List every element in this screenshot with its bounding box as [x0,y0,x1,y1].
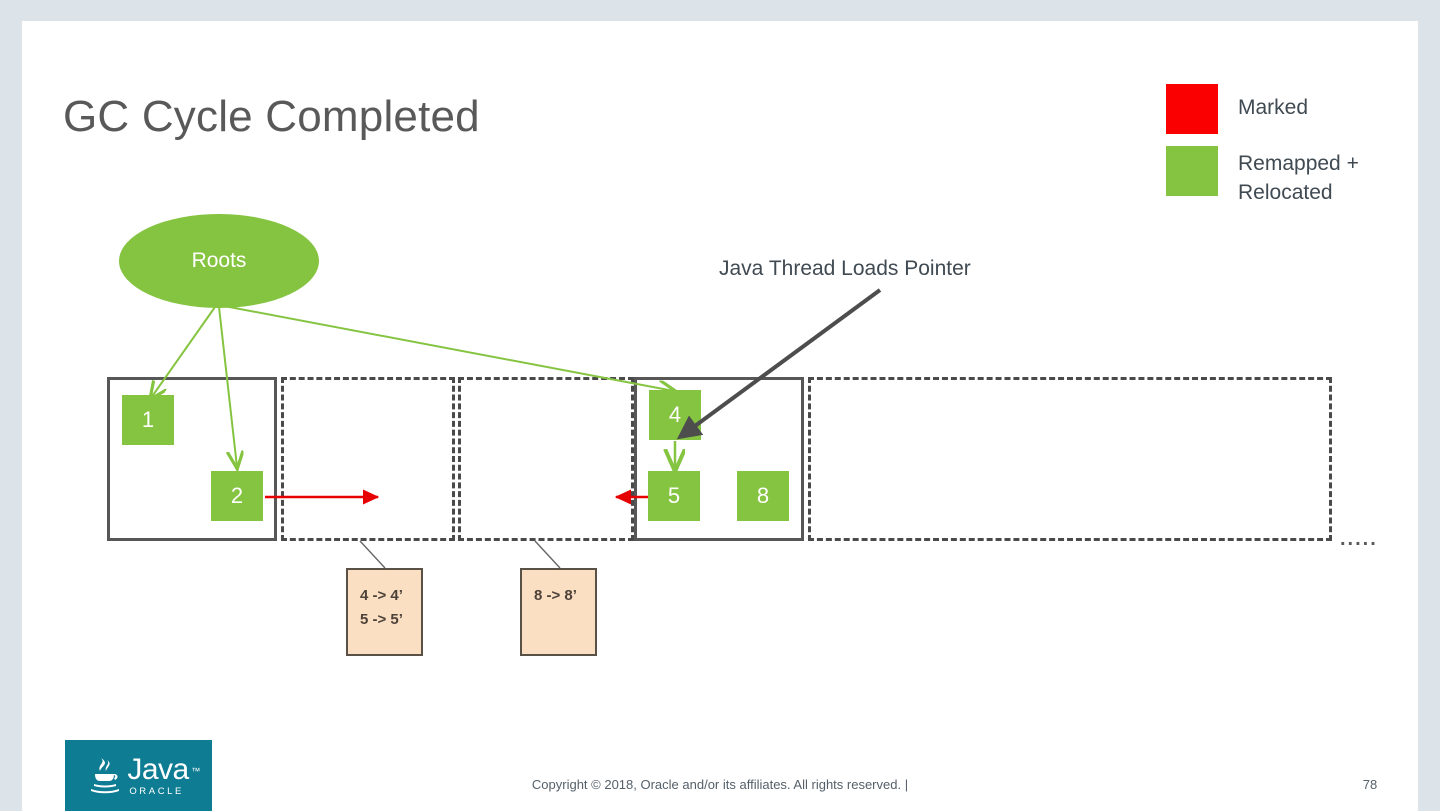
roots-label: Roots [192,249,247,273]
java-thread-loads-pointer-label: Java Thread Loads Pointer [719,257,971,281]
forwarding-entry: 4 -> 4’ [360,584,421,608]
forwarding-entry: 5 -> 5’ [360,608,421,632]
java-oracle-logo: Java™ ORACLE [65,740,212,811]
legend-label-marked: Marked [1238,84,1308,122]
forwarding-entry: 8 -> 8’ [534,584,595,608]
heap-object-4: 4 [649,390,701,440]
footer-page-number: 78 [1350,777,1390,792]
heap-object-5: 5 [648,471,700,521]
forwarding-table-2: 8 -> 8’ [520,568,597,656]
legend-item-remapped-relocated: Remapped + Relocated [1166,146,1426,207]
heap-region-2 [281,377,455,541]
legend-item-marked: Marked [1166,84,1426,134]
heap-object-label: 5 [668,483,680,509]
heap-object-1: 1 [122,395,174,445]
heap-object-2: 2 [211,471,263,521]
heap-object-label: 1 [142,407,154,433]
heap-object-label: 2 [231,483,243,509]
legend-label-remapped-relocated: Remapped + Relocated [1238,146,1398,207]
heap-object-8: 8 [737,471,789,521]
page-title: GC Cycle Completed [63,92,480,142]
legend-swatch-marked [1166,84,1218,134]
legend: Marked Remapped + Relocated [1166,84,1426,219]
heap-region-3 [458,377,634,541]
heap-region-5 [808,377,1332,541]
heap-continues-ellipsis: ..... [1340,528,1378,551]
roots-node: Roots [119,214,319,308]
legend-swatch-remapped-relocated [1166,146,1218,196]
heap-object-label: 4 [669,402,681,428]
heap-object-label: 8 [757,483,769,509]
footer-copyright: Copyright © 2018, Oracle and/or its affi… [0,777,1440,792]
forwarding-table-1: 4 -> 4’ 5 -> 5’ [346,568,423,656]
